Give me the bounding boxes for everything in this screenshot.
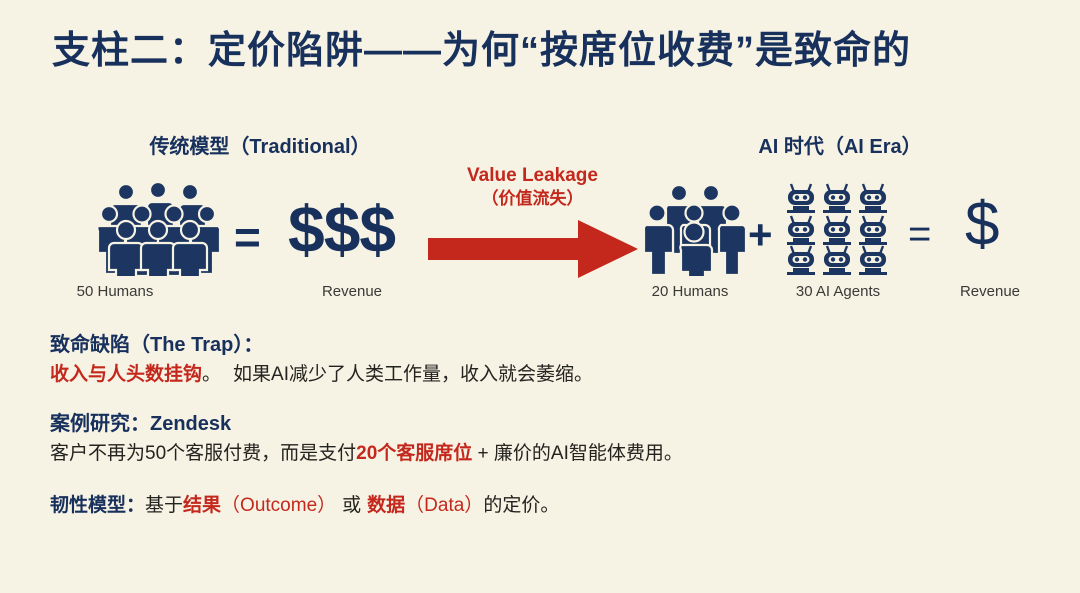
resilient-line: 韧性模型：基于结果（Outcome）或数据（Data）的定价。 — [50, 491, 1060, 521]
value-leakage-label: Value Leakage （价值流失） — [425, 164, 640, 209]
case-part2: + 廉价的AI智能体费用。 — [472, 443, 683, 464]
case-block: 案例研究：Zendesk 客户不再为50个客服付费，而是支付20个客服席位 + … — [50, 409, 1060, 468]
trap-highlight: 收入与人头数挂钩 — [50, 364, 202, 385]
revenue-money-left: $$$ — [288, 196, 395, 262]
equals-operator-left: = — [234, 214, 261, 260]
robot-grid-icon — [782, 180, 892, 276]
case-part1: 客户不再为50个客服付费，而是支付 — [50, 443, 356, 464]
plus-operator: + — [748, 214, 773, 256]
trap-block: 致命缺陷（The Trap）： 收入与人头数挂钩。如果AI减少了人类工作量，收入… — [50, 330, 1060, 389]
revenue-money-right: $ — [965, 194, 999, 256]
slide-root: 支柱二：定价陷阱——为何“按席位收费”是致命的 传统模型（Traditional… — [0, 0, 1080, 593]
resilient-hl2: 数据 — [367, 495, 405, 516]
body-text: 致命缺陷（The Trap）： 收入与人头数挂钩。如果AI减少了人类工作量，收入… — [50, 330, 1060, 534]
case-line: 客户不再为50个客服付费，而是支付20个客服席位 + 廉价的AI智能体费用。 — [50, 439, 1060, 468]
page-title: 支柱二：定价陷阱——为何“按席位收费”是致命的 — [52, 28, 1042, 76]
ai-era-panel-heading: AI 时代（AI Era） — [630, 130, 1050, 159]
resilient-lead: 韧性模型： — [50, 495, 145, 516]
resilient-hl1: 结果 — [183, 495, 221, 516]
caption-revenue-left: Revenue — [262, 283, 442, 300]
caption-20-humans: 20 Humans — [630, 283, 750, 300]
traditional-panel-heading: 传统模型（Traditional） — [90, 130, 430, 159]
resilient-paren1: （Outcome） — [221, 495, 336, 516]
crowd-of-people-icon — [96, 180, 220, 276]
resilient-part2: 的定价。 — [483, 495, 559, 516]
case-lead: 案例研究：Zendesk — [50, 409, 1060, 439]
caption-revenue-right: Revenue — [920, 283, 1060, 300]
resilient-block: 韧性模型：基于结果（Outcome）或数据（Data）的定价。 — [50, 491, 1060, 521]
right-arrow-icon — [428, 218, 640, 280]
pricing-diagram: 传统模型（Traditional） AI 时代（AI Era） — [0, 118, 1080, 313]
trap-line: 收入与人头数挂钩。如果AI减少了人类工作量，收入就会萎缩。 — [50, 360, 1060, 389]
trap-period: 。 — [202, 364, 221, 385]
case-highlight: 20个客服席位 — [356, 443, 472, 464]
resilient-part1: 基于 — [145, 495, 183, 516]
equals-operator-right: = — [908, 214, 931, 254]
resilient-mid: 或 — [342, 495, 361, 516]
trap-rest: 如果AI减少了人类工作量，收入就会萎缩。 — [233, 364, 593, 385]
value-leakage-en: Value Leakage — [425, 164, 640, 188]
caption-50-humans: 50 Humans — [60, 283, 170, 300]
trap-lead: 致命缺陷（The Trap）： — [50, 330, 1060, 360]
resilient-paren2: （Data） — [405, 495, 483, 516]
caption-30-ai-agents: 30 AI Agents — [768, 283, 908, 300]
value-leakage-zh: （价值流失） — [425, 188, 640, 209]
crowd-of-people-icon-small — [642, 182, 746, 276]
